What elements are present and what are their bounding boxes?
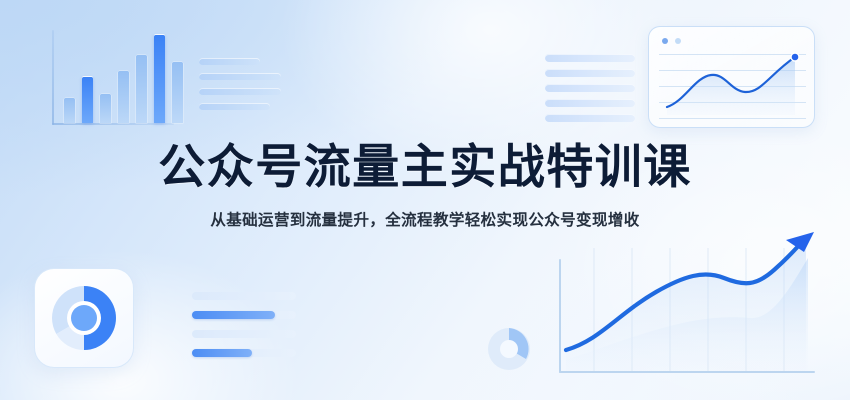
progress-row	[192, 349, 296, 357]
decorative-mini-donut	[482, 322, 536, 381]
text-line	[545, 54, 635, 62]
decorative-bar-chart	[52, 30, 174, 125]
banner-headline: 公众号流量主实战特训课	[0, 142, 850, 191]
bar-chart-x-axis	[52, 123, 174, 125]
bar-chart-bar	[100, 94, 111, 123]
donut-center-dot	[71, 305, 97, 331]
decorative-donut-card	[34, 268, 134, 368]
progress-row	[192, 311, 296, 319]
text-line	[545, 99, 635, 107]
banner-text-block: 公众号流量主实战特训课 从基础运营到流量提升，全流程教学轻松实现公众号变现增收	[0, 142, 850, 230]
growth-chart	[552, 230, 830, 390]
progress-row	[192, 330, 296, 338]
bar-chart-bar	[118, 71, 129, 123]
growth-area-primary	[566, 240, 806, 371]
course-banner: 公众号流量主实战特训课 从基础运营到流量提升，全流程教学轻松实现公众号变现增收	[0, 0, 850, 400]
growth-arrow-icon	[786, 232, 814, 252]
text-line	[545, 69, 635, 77]
bar-chart-bar	[172, 62, 183, 123]
text-line	[199, 58, 260, 65]
bar-chart-bar	[154, 35, 165, 123]
decorative-dashboard-card	[648, 26, 815, 128]
bar-chart-bar	[64, 98, 75, 123]
decorative-progress-bars	[192, 292, 296, 368]
text-line	[199, 103, 270, 110]
decorative-growth-chart	[552, 230, 830, 395]
mini-donut-chart	[482, 322, 536, 376]
text-line	[545, 84, 635, 92]
text-line	[199, 73, 281, 80]
bar-chart-bar	[82, 77, 93, 123]
banner-subheadline: 从基础运营到流量提升，全流程教学轻松实现公众号变现增收	[0, 208, 850, 230]
card-area-chart	[649, 27, 814, 127]
progress-fill	[192, 311, 275, 319]
decorative-text-lines-center	[545, 54, 635, 129]
progress-row	[192, 292, 296, 300]
bar-chart-bar	[136, 55, 147, 123]
card-endpoint-marker	[791, 53, 799, 61]
donut-chart	[49, 283, 119, 353]
bar-chart-y-axis	[52, 30, 54, 125]
decorative-text-lines-left	[199, 58, 281, 118]
mini-donut-hole	[500, 340, 518, 358]
text-line	[545, 114, 635, 122]
progress-fill	[192, 349, 252, 357]
text-line	[199, 88, 281, 95]
